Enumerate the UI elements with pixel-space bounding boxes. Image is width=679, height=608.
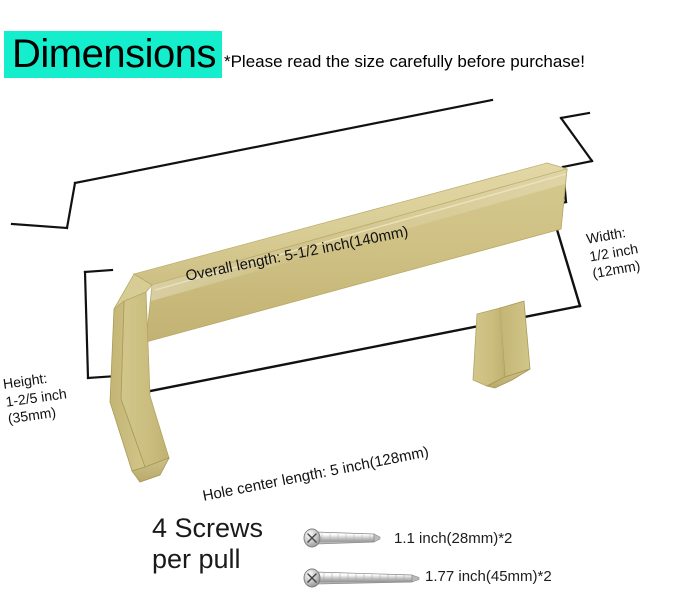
dimension-diagram: Overall length: 5-1/2 inch(140mm) Hole c… bbox=[0, 90, 679, 500]
diagram-svg bbox=[0, 90, 679, 500]
pull-right-leg-side bbox=[500, 301, 530, 377]
header: Dimensions *Please read the size careful… bbox=[0, 0, 679, 78]
screw-row-long: 1.77 inch(45mm)*2 bbox=[300, 563, 552, 589]
screw-row-short: 1.1 inch(28mm)*2 bbox=[300, 525, 512, 551]
height-label: Height: 1-2/5 inch (35mm) bbox=[2, 367, 70, 428]
cabinet-pull-graphic bbox=[110, 163, 567, 482]
screws-title-line2: per pull bbox=[152, 544, 263, 575]
screws-title-line1: 4 Screws bbox=[152, 513, 263, 543]
width-label: Width: 1/2 inch (12mm) bbox=[585, 222, 642, 282]
long-screw-icon bbox=[300, 563, 424, 589]
page-title: Dimensions bbox=[12, 32, 216, 76]
long-screw-caption: 1.77 inch(45mm)*2 bbox=[425, 568, 552, 585]
title-highlight-band: Dimensions bbox=[4, 31, 222, 78]
screws-title: 4 Screws per pull bbox=[152, 513, 263, 575]
short-screw-icon bbox=[300, 525, 388, 551]
short-screw-caption: 1.1 inch(28mm)*2 bbox=[394, 530, 512, 547]
screws-section: 4 Screws per pull bbox=[0, 505, 679, 608]
header-subtitle: *Please read the size carefully before p… bbox=[224, 53, 585, 70]
